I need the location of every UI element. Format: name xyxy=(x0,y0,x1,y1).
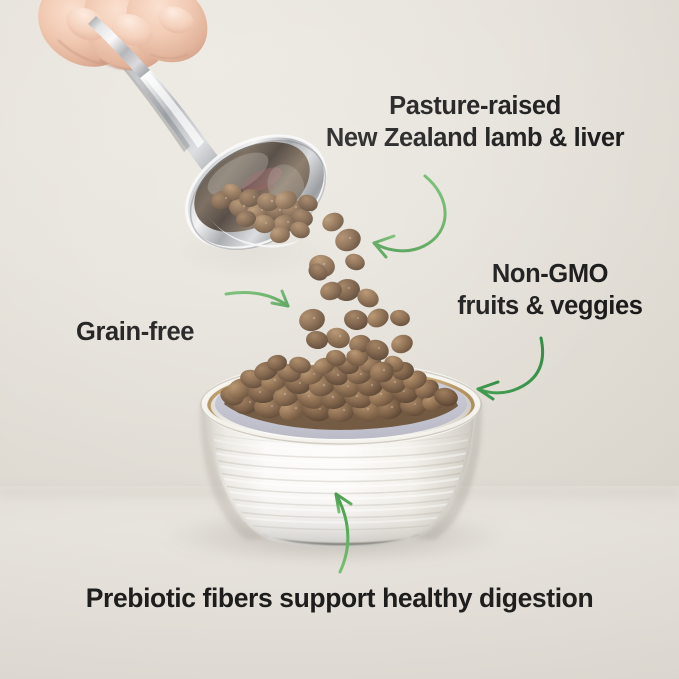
caption-pasture-raised-line1: Pasture-raised xyxy=(389,92,561,120)
infographic-stage: Pasture-raisedNew Zealand lamb & liver N… xyxy=(0,0,679,679)
caption-pasture-raised-line2: New Zealand lamb & liver xyxy=(326,124,624,152)
caption-prebiotic: Prebiotic fibers support healthy digesti… xyxy=(0,582,679,615)
caption-grain-free: Grain-free xyxy=(76,316,194,348)
caption-pasture-raised: Pasture-raisedNew Zealand lamb & liver xyxy=(310,90,640,154)
kibble-in-bowl xyxy=(218,346,460,430)
scoop-and-hand xyxy=(38,0,345,271)
hand xyxy=(38,0,207,78)
caption-non-gmo-line1: Non-GMO xyxy=(492,260,608,288)
caption-non-gmo: Non-GMOfruits & veggies xyxy=(455,258,645,322)
caption-non-gmo-line2: fruits & veggies xyxy=(457,292,642,320)
